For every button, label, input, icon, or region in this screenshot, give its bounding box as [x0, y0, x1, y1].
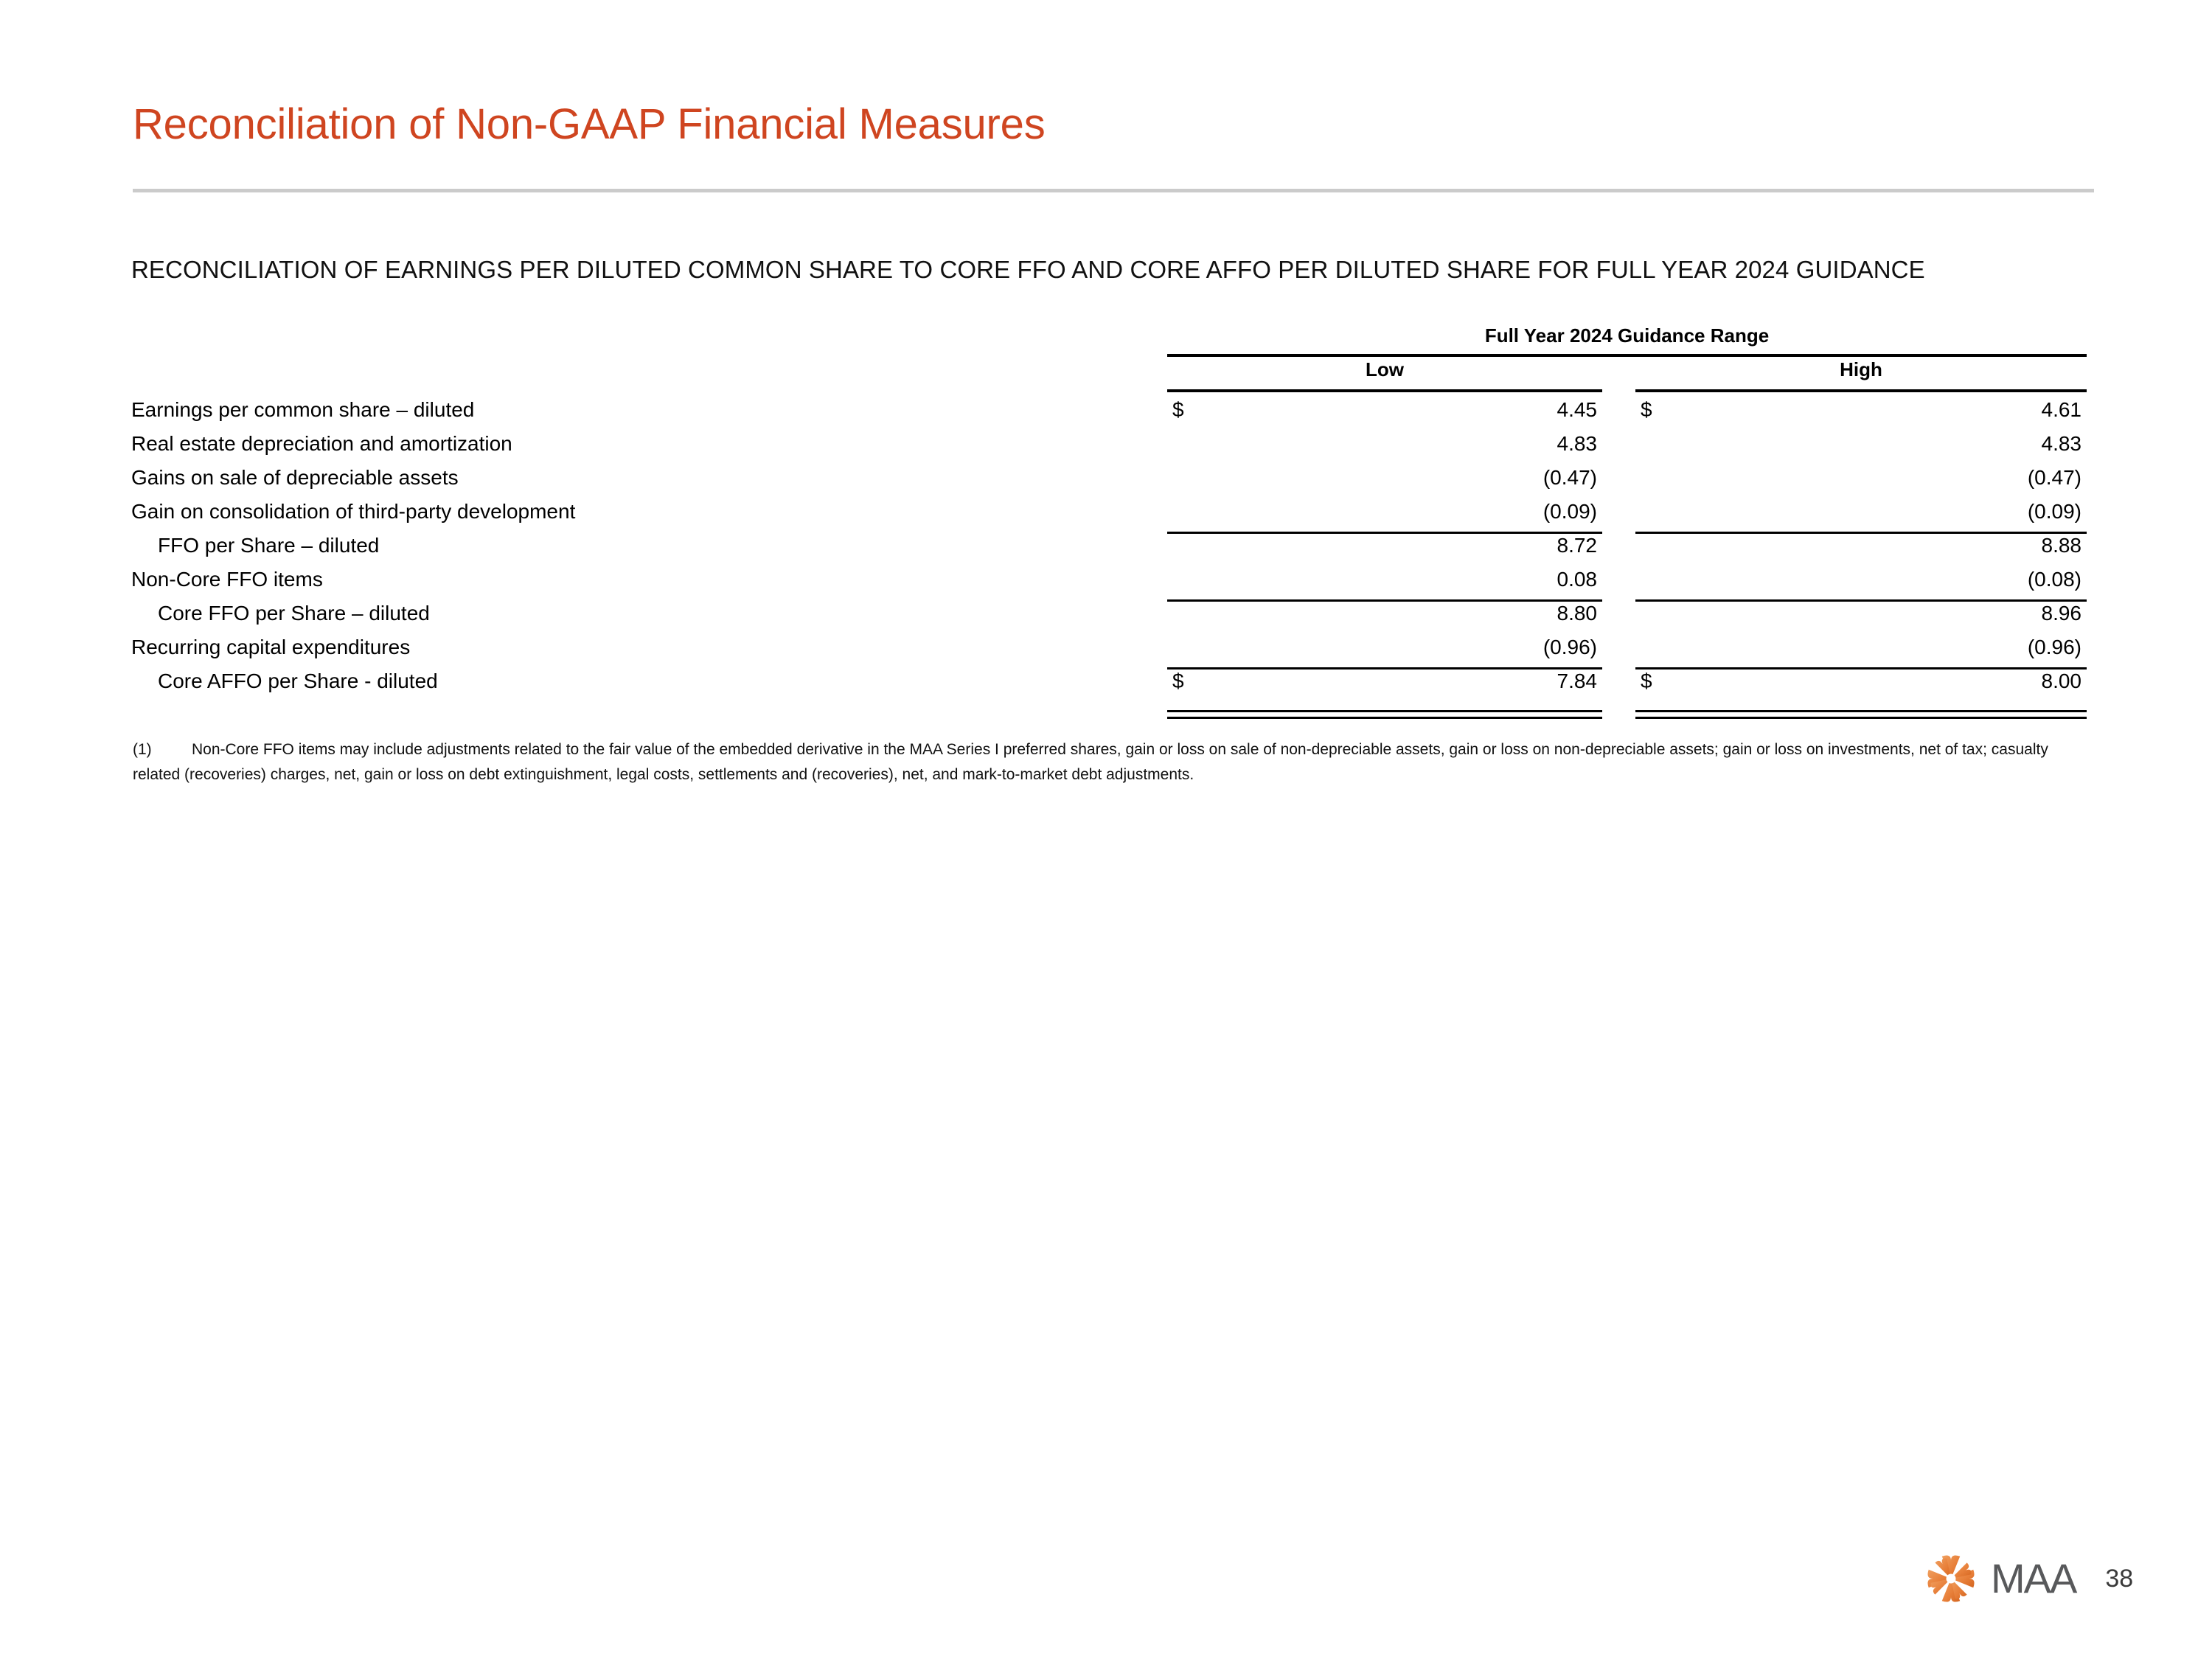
- span-header-label: Full Year 2024 Guidance Range: [1167, 324, 2087, 347]
- row-label: Gain on consolidation of third-party dev…: [131, 500, 575, 524]
- row-label: Gains on sale of depreciable assets: [131, 466, 459, 490]
- cell-value-low: 7.84: [1167, 669, 1597, 693]
- row-label: FFO per Share – diluted: [158, 534, 379, 557]
- row-label: Non-Core FFO items: [131, 568, 323, 591]
- row-label: Recurring capital expenditures: [131, 636, 410, 659]
- row-double-underline-low: [1167, 710, 1602, 712]
- title-divider: [133, 189, 2094, 192]
- cell-value-low: (0.96): [1167, 636, 1597, 659]
- cell-value-high: (0.08): [1635, 568, 2081, 591]
- cell-value-low: 4.83: [1167, 432, 1597, 456]
- footnote: (1) Non-Core FFO items may include adjus…: [133, 737, 2094, 787]
- column-header-rule-high: [1635, 389, 2087, 392]
- table-row: Non-Core FFO items0.08(0.08): [131, 566, 2093, 600]
- table-span-header-row: Full Year 2024 Guidance Range: [131, 324, 2093, 354]
- column-header-rule-low: [1167, 389, 1602, 392]
- table-row: Real estate depreciation and amortizatio…: [131, 431, 2093, 465]
- table-row: Recurring capital expenditures(0.96)(0.9…: [131, 634, 2093, 668]
- table-row: Core FFO per Share – diluted8.808.96: [131, 600, 2093, 634]
- footnote-marker: (1): [133, 737, 152, 762]
- cell-value-high: 8.88: [1635, 534, 2081, 557]
- table-row: Gain on consolidation of third-party dev…: [131, 498, 2093, 532]
- cell-value-low: 0.08: [1167, 568, 1597, 591]
- column-header-low: Low: [1167, 358, 1602, 381]
- row-label: Core AFFO per Share - diluted: [158, 669, 438, 693]
- cell-value-high: 8.00: [1635, 669, 2081, 693]
- table-row: Earnings per common share – diluted$4.45…: [131, 397, 2093, 431]
- slide-footer: MAA 38: [1924, 1552, 2133, 1605]
- cell-value-high: 4.83: [1635, 432, 2081, 456]
- cell-value-high: (0.47): [1635, 466, 2081, 490]
- row-label: Real estate depreciation and amortizatio…: [131, 432, 512, 456]
- cell-value-low: (0.47): [1167, 466, 1597, 490]
- row-label: Earnings per common share – diluted: [131, 398, 474, 422]
- footnote-text: Non-Core FFO items may include adjustmen…: [133, 741, 2048, 783]
- cell-value-low: 8.72: [1167, 534, 1597, 557]
- cell-value-high: 4.61: [1635, 398, 2081, 422]
- row-double-underline-high: [1635, 710, 2087, 712]
- cell-value-high: (0.96): [1635, 636, 2081, 659]
- reconciliation-table: Full Year 2024 Guidance Range Low High E…: [131, 324, 2093, 702]
- cell-value-high: 8.96: [1635, 602, 2081, 625]
- cell-value-high: (0.09): [1635, 500, 2081, 524]
- cell-value-low: 4.45: [1167, 398, 1597, 422]
- page-title: Reconciliation of Non-GAAP Financial Mea…: [133, 100, 1046, 149]
- section-heading: RECONCILIATION OF EARNINGS PER DILUTED C…: [131, 256, 1925, 284]
- maa-pinwheel-logo-icon: [1924, 1552, 1978, 1605]
- cell-value-low: 8.80: [1167, 602, 1597, 625]
- table-row: Core AFFO per Share - diluted$7.84$8.00: [131, 668, 2093, 702]
- maa-wordmark: MAA: [1991, 1558, 2076, 1599]
- table-body: Earnings per common share – diluted$4.45…: [131, 397, 2093, 702]
- row-label: Core FFO per Share – diluted: [158, 602, 430, 625]
- table-row: FFO per Share – diluted8.728.88: [131, 532, 2093, 566]
- page-number: 38: [2105, 1565, 2133, 1593]
- column-header-high: High: [1635, 358, 2087, 381]
- table-row: Gains on sale of depreciable assets(0.47…: [131, 465, 2093, 498]
- table-column-header-row: Low High: [131, 354, 2093, 389]
- cell-value-low: (0.09): [1167, 500, 1597, 524]
